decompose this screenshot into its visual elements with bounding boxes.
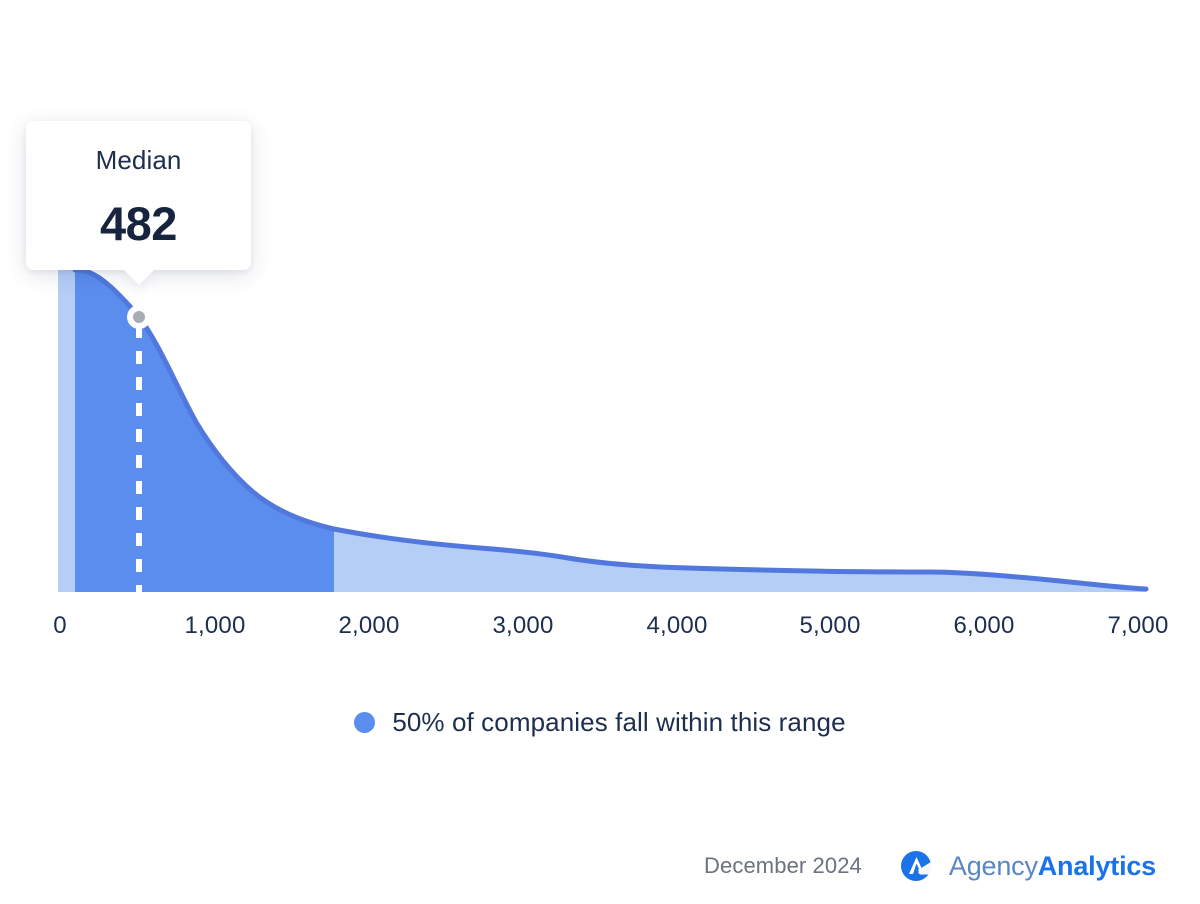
x-tick-6000: 6,000 — [953, 612, 1014, 640]
x-axis: 0 1,000 2,000 3,000 4,000 5,000 6,000 7,… — [0, 612, 1200, 658]
median-value: 482 — [100, 200, 177, 247]
median-marker[interactable] — [127, 305, 151, 329]
footer: December 2024 AgencyAnalytics — [704, 845, 1156, 887]
median-marker-core — [133, 311, 145, 323]
brand-wordmark: AgencyAnalytics — [949, 853, 1156, 880]
x-tick-2000: 2,000 — [338, 612, 399, 640]
x-tick-0: 0 — [53, 612, 67, 640]
x-tick-3000: 3,000 — [492, 612, 553, 640]
median-label: Median — [96, 147, 182, 173]
chart-page: Median 482 0 1,000 2,000 3,000 4,000 5,0… — [0, 0, 1200, 904]
chart-svg — [0, 0, 1200, 600]
legend-label: 50% of companies fall within this range — [392, 707, 845, 738]
legend-swatch-icon — [354, 712, 375, 733]
report-period: December 2024 — [704, 853, 862, 879]
brand-logo: AgencyAnalytics — [898, 846, 1156, 886]
brand-word-agency: Agency — [949, 851, 1038, 881]
median-tooltip-card[interactable]: Median 482 — [26, 121, 251, 270]
x-tick-4000: 4,000 — [646, 612, 707, 640]
area-left-edge-strip — [58, 270, 75, 592]
brand-word-analytics: Analytics — [1038, 851, 1156, 881]
x-tick-5000: 5,000 — [799, 612, 860, 640]
x-tick-1000: 1,000 — [184, 612, 245, 640]
agencyanalytics-logo-icon — [898, 846, 938, 886]
distribution-chart: Median 482 — [0, 0, 1200, 600]
chart-legend: 50% of companies fall within this range — [0, 700, 1200, 744]
tooltip-pointer-icon — [123, 269, 155, 285]
x-tick-7000: 7,000 — [1107, 612, 1168, 640]
